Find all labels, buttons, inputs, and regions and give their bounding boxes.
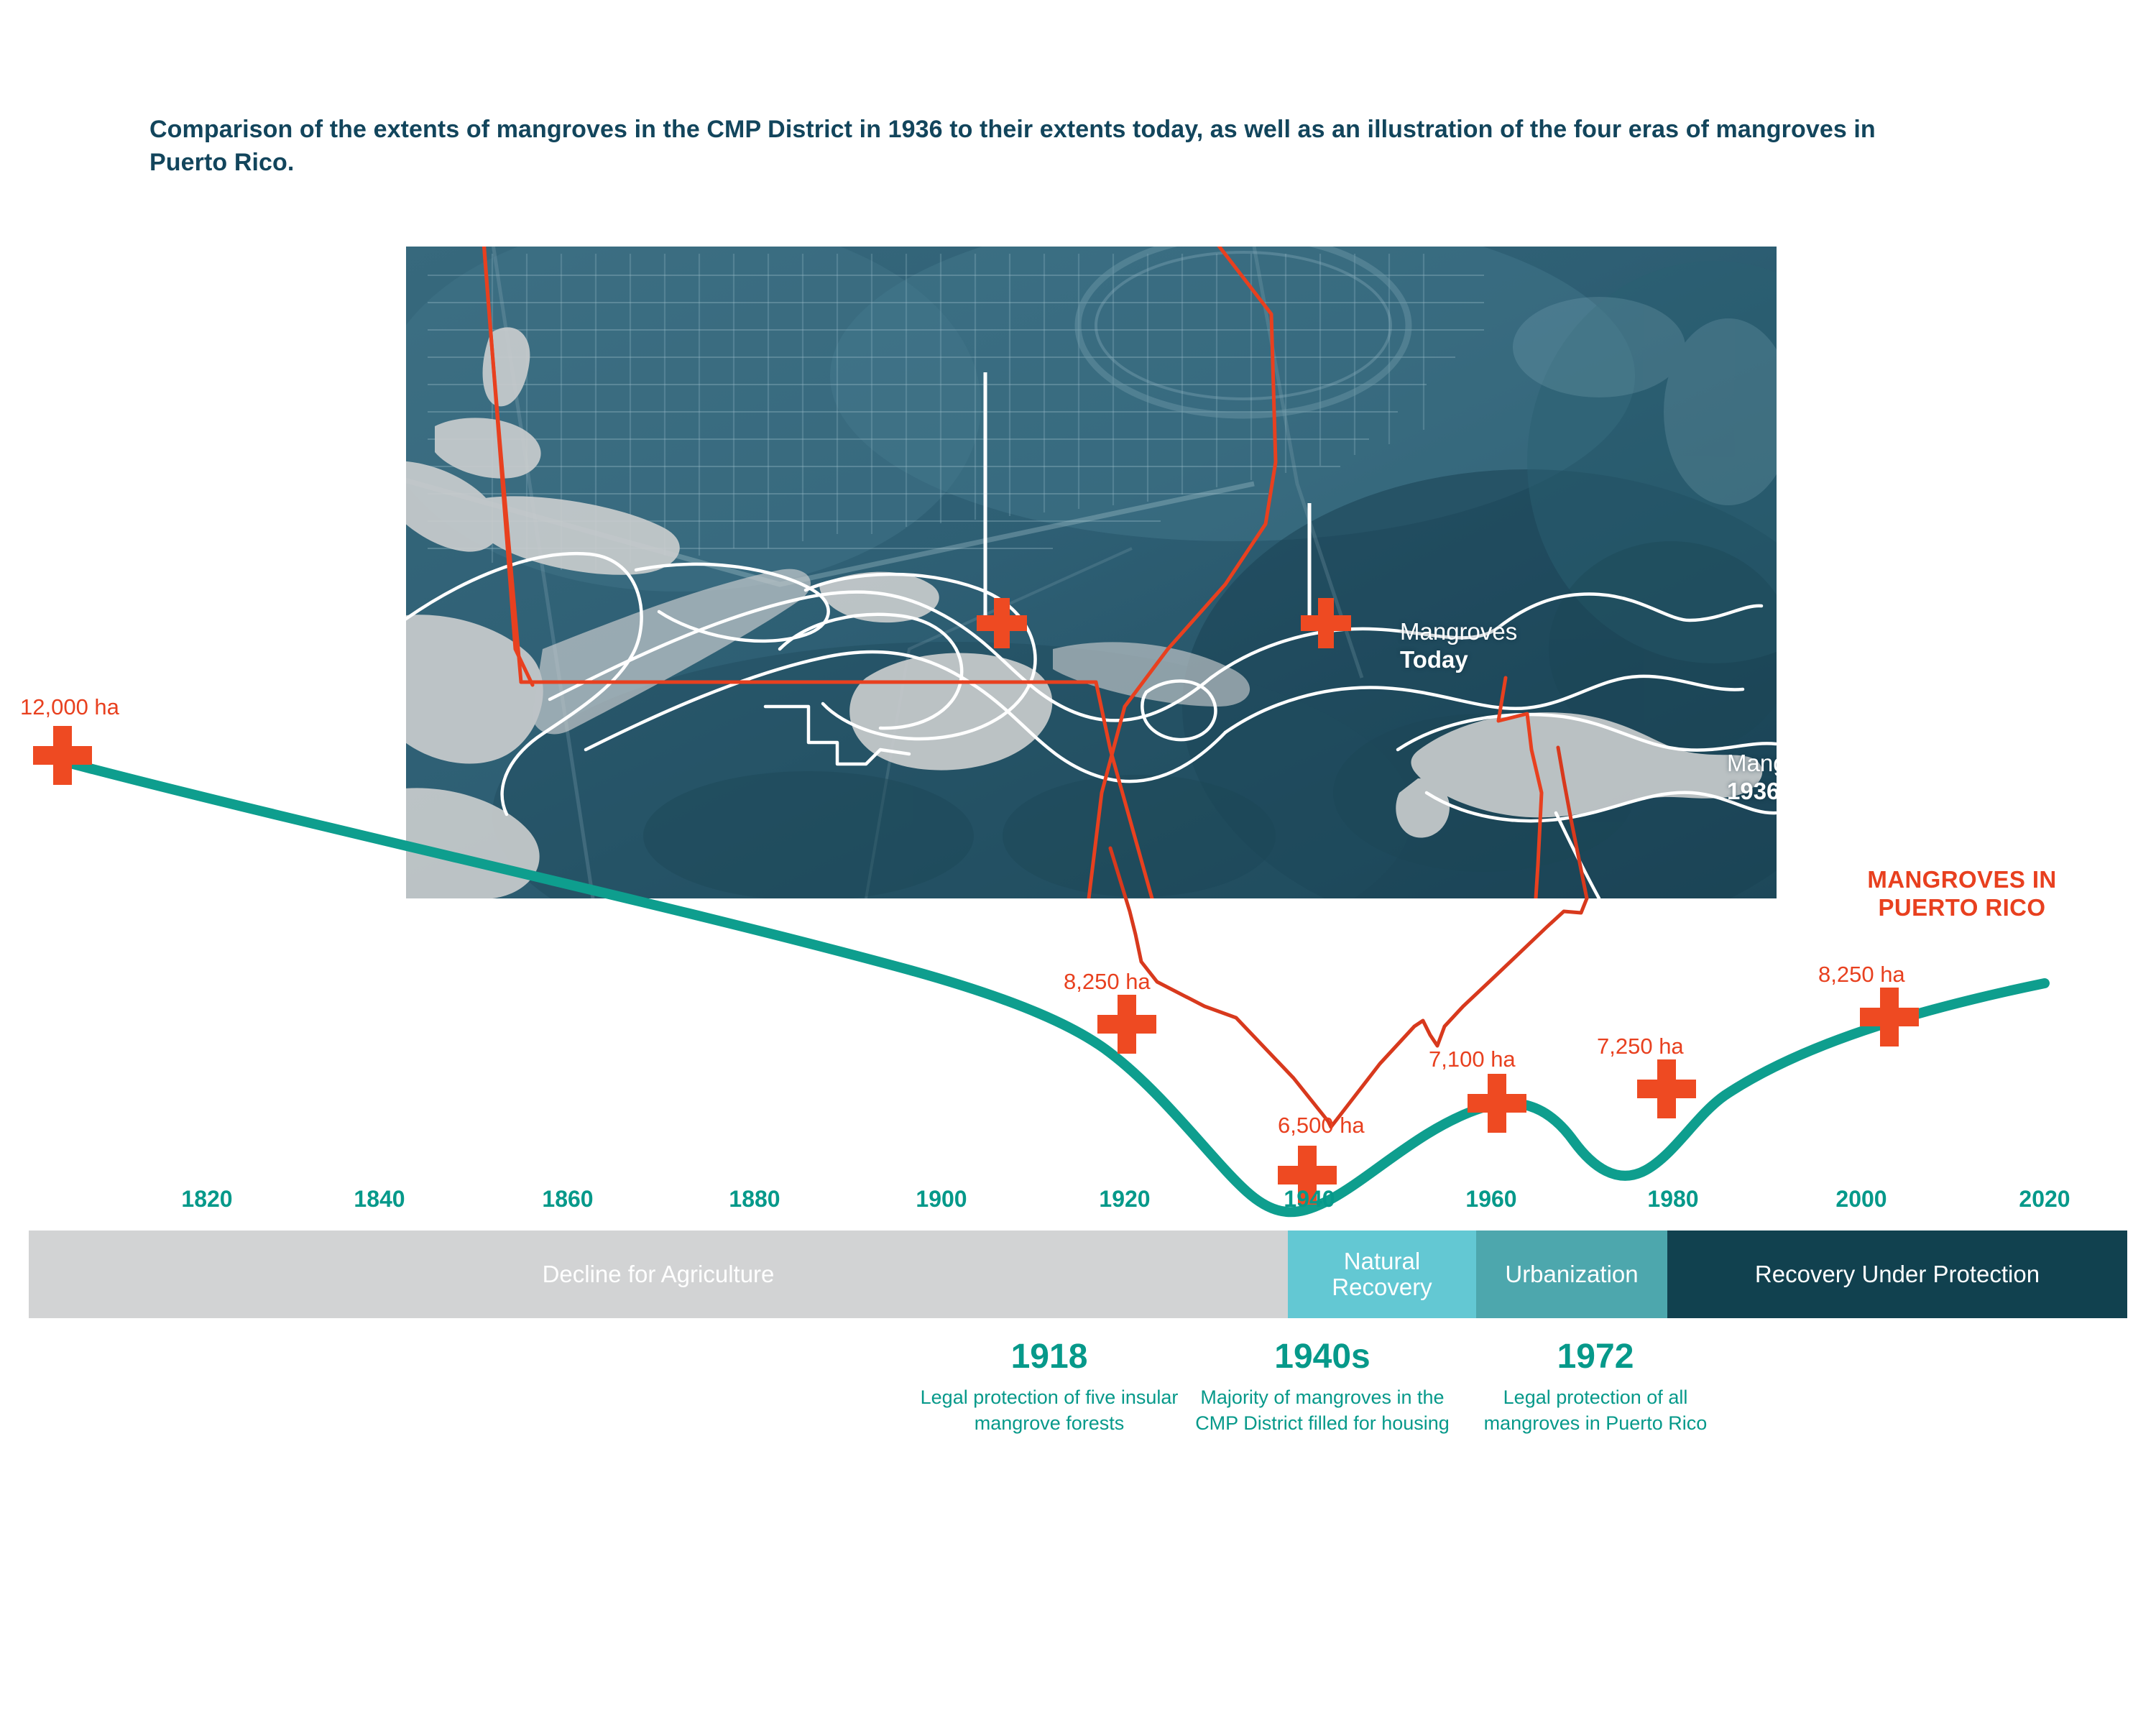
map-imagery [406,247,1777,898]
x-tick-1980: 1980 [1647,1186,1698,1213]
x-tick-1820: 1820 [181,1186,232,1213]
map-label-1936-line2: 1936 [1727,778,1777,806]
era-band-urbanization[interactable]: Urbanization [1476,1230,1667,1318]
annotation-1972: 1972 Legal protection of all mangroves i… [1459,1338,1732,1437]
data-marker-1960[interactable] [1468,1074,1526,1133]
era-band-decline-for-agriculture[interactable]: Decline for Agriculture [29,1230,1288,1318]
infographic-root: Comparison of the extents of mangroves i… [0,0,2156,1725]
era-band-recovery-under-protection[interactable]: Recovery Under Protection [1667,1230,2127,1318]
annotation-1972-text: Legal protection of all mangroves in Pue… [1459,1385,1732,1437]
chart-heading-line1: MANGROVES IN [1867,866,2056,893]
map-label-today-line1: Mangroves [1400,618,1517,645]
value-label-6500: 6,500 ha [1278,1113,1365,1138]
aerial-map[interactable]: Mangroves Today Mangroves 1936 [406,247,1777,898]
annotation-1918-text: Legal protection of five insular mangrov… [913,1385,1186,1437]
map-label-today-line2: Today [1400,646,1517,674]
x-tick-2020: 2020 [2019,1186,2070,1213]
chart-heading: MANGROVES IN PUERTO RICO [1818,866,2106,922]
era-band-natural-recovery[interactable]: Natural Recovery [1288,1230,1476,1318]
x-tick-1920: 1920 [1099,1186,1150,1213]
data-marker-1978[interactable] [1637,1059,1696,1118]
page-title: Comparison of the extents of mangroves i… [149,114,1910,179]
value-label-7100: 7,100 ha [1429,1046,1516,1072]
annotation-1972-year: 1972 [1459,1338,1732,1376]
x-tick-2000: 2000 [1835,1186,1886,1213]
annotation-1918-year: 1918 [913,1338,1186,1376]
value-label-8250-2004: 8,250 ha [1818,962,1905,988]
value-label-7250: 7,250 ha [1597,1034,1684,1059]
chart-heading-line2: PUERTO RICO [1879,894,2046,921]
x-tick-1840: 1840 [354,1186,405,1213]
value-label-12000: 12,000 ha [20,694,119,720]
x-tick-1960: 1960 [1465,1186,1516,1213]
annotation-1940s: 1940s Majority of mangroves in the CMP D… [1186,1338,1459,1437]
annotation-1918: 1918 Legal protection of five insular ma… [913,1338,1186,1437]
x-tick-1940: 1940 [1284,1186,1335,1213]
value-label-8250-1918: 8,250 ha [1064,969,1151,995]
map-label-mangroves-today: Mangroves Today [1400,618,1517,673]
x-tick-1900: 1900 [916,1186,967,1213]
data-marker-1812[interactable] [33,726,92,785]
map-label-mangroves-1936: Mangroves 1936 [1727,750,1777,805]
annotation-1940s-year: 1940s [1186,1338,1459,1376]
x-tick-1880: 1880 [729,1186,780,1213]
x-tick-1860: 1860 [542,1186,593,1213]
data-marker-2004[interactable] [1860,988,1919,1046]
map-label-1936-line1: Mangroves [1727,750,1777,776]
annotation-1940s-text: Majority of mangroves in the CMP Distric… [1186,1385,1459,1437]
data-marker-1918[interactable] [1097,995,1156,1054]
